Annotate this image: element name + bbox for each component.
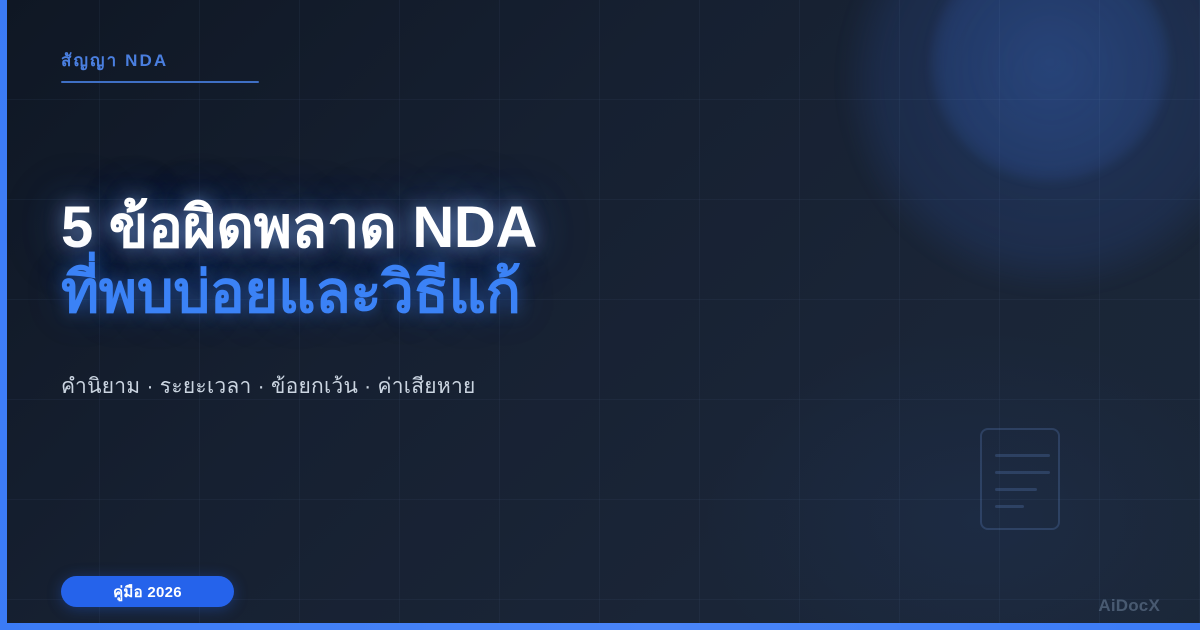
page-title: 5 ข้อผิดพลาด NDA ที่พบบ่อยและวิธีแก้ [61, 196, 881, 326]
brand-watermark: AiDocX [1098, 596, 1160, 616]
eyebrow-label: สัญญา NDA [61, 50, 259, 72]
subtitle: คำนิยาม · ระยะเวลา · ข้อยกเว้น · ค่าเสีย… [61, 370, 476, 403]
page-title-line-1: 5 ข้อผิดพลาด NDA [61, 196, 881, 261]
cover-content: สัญญา NDA 5 ข้อผิดพลาด NDA ที่พบบ่อยและว… [0, 0, 1200, 630]
cover-canvas: สัญญา NDA 5 ข้อผิดพลาด NDA ที่พบบ่อยและว… [0, 0, 1200, 630]
status-badge: คู่มือ 2026 [61, 576, 234, 607]
eyebrow-group: สัญญา NDA [61, 50, 259, 83]
page-title-line-2: ที่พบบ่อยและวิธีแก้ [61, 261, 881, 326]
eyebrow-underline [61, 81, 259, 83]
